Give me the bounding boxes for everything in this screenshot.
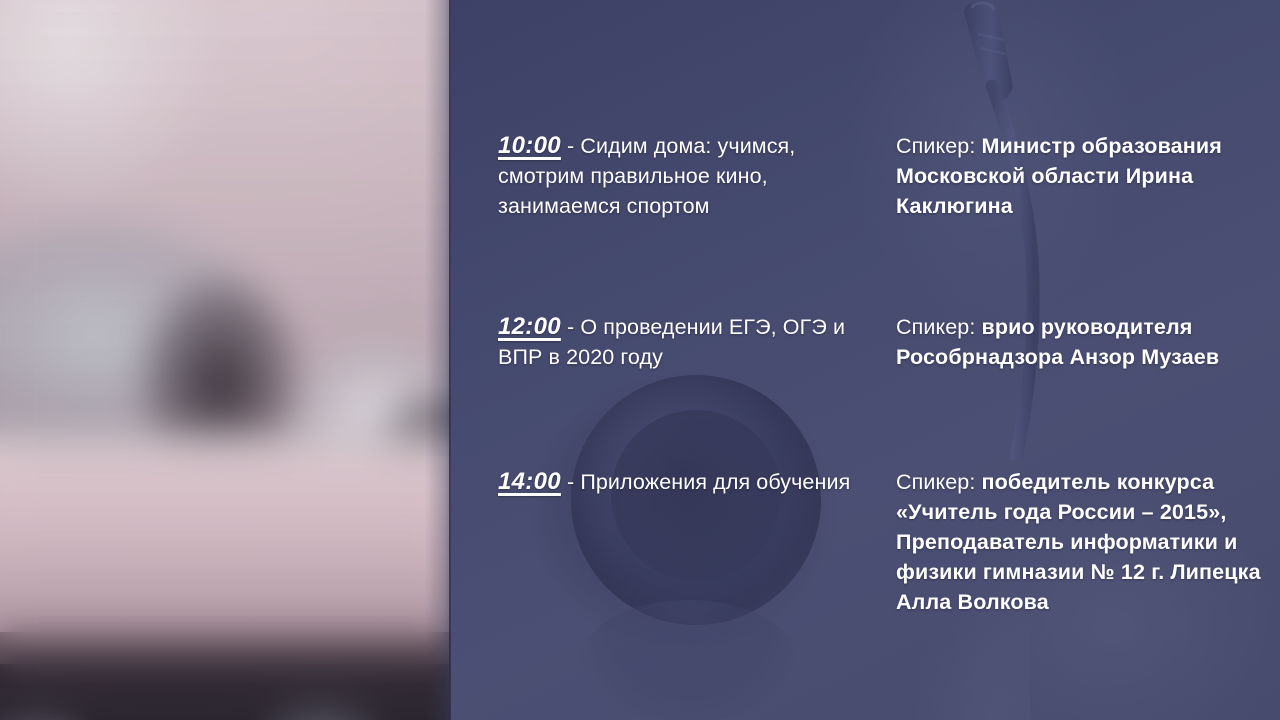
session-column: 14:00 - Приложения для обучения	[498, 467, 896, 497]
speaker-label: Спикер:	[896, 315, 982, 339]
photo-right-shade	[425, 0, 451, 720]
schedule-list: 10:00 - Сидим дома: учимся, смотрим прав…	[451, 0, 1280, 720]
photo-tint-overlay	[0, 0, 451, 720]
speaker-label: Спикер:	[896, 134, 982, 158]
speaker-column: Спикер: Министр образования Московской о…	[896, 131, 1280, 221]
session-time: 12:00	[498, 313, 561, 340]
session-text: 10:00 - Сидим дома: учимся, смотрим прав…	[498, 131, 882, 221]
blurred-workspace-photo	[0, 0, 451, 720]
schedule-row: 10:00 - Сидим дома: учимся, смотрим прав…	[498, 131, 1280, 221]
session-time: 14:00	[498, 468, 561, 495]
schedule-row: 14:00 - Приложения для обучения Спикер: …	[498, 467, 1280, 617]
session-column: 12:00 - О проведении ЕГЭ, ОГЭ и ВПР в 20…	[498, 312, 896, 372]
session-dash: -	[561, 470, 580, 494]
session-text: 14:00 - Приложения для обучения	[498, 467, 882, 497]
speaker-text: Спикер: врио руководителя Рособрнадзора …	[896, 312, 1280, 372]
session-column: 10:00 - Сидим дома: учимся, смотрим прав…	[498, 131, 896, 221]
speaker-column: Спикер: врио руководителя Рособрнадзора …	[896, 312, 1280, 372]
speaker-label: Спикер:	[896, 470, 982, 494]
speaker-column: Спикер: победитель конкурса «Учитель год…	[896, 467, 1280, 617]
speaker-text: Спикер: победитель конкурса «Учитель год…	[896, 467, 1280, 617]
schedule-row: 12:00 - О проведении ЕГЭ, ОГЭ и ВПР в 20…	[498, 312, 1280, 372]
session-text: 12:00 - О проведении ЕГЭ, ОГЭ и ВПР в 20…	[498, 312, 882, 372]
session-time: 10:00	[498, 132, 561, 159]
speaker-text: Спикер: Министр образования Московской о…	[896, 131, 1280, 221]
schedule-slide: 10:00 - Сидим дома: учимся, смотрим прав…	[0, 0, 1280, 720]
schedule-panel: 10:00 - Сидим дома: учимся, смотрим прав…	[451, 0, 1280, 720]
session-title: Приложения для обучения	[580, 470, 850, 494]
session-dash: -	[561, 134, 580, 158]
session-dash: -	[561, 315, 580, 339]
